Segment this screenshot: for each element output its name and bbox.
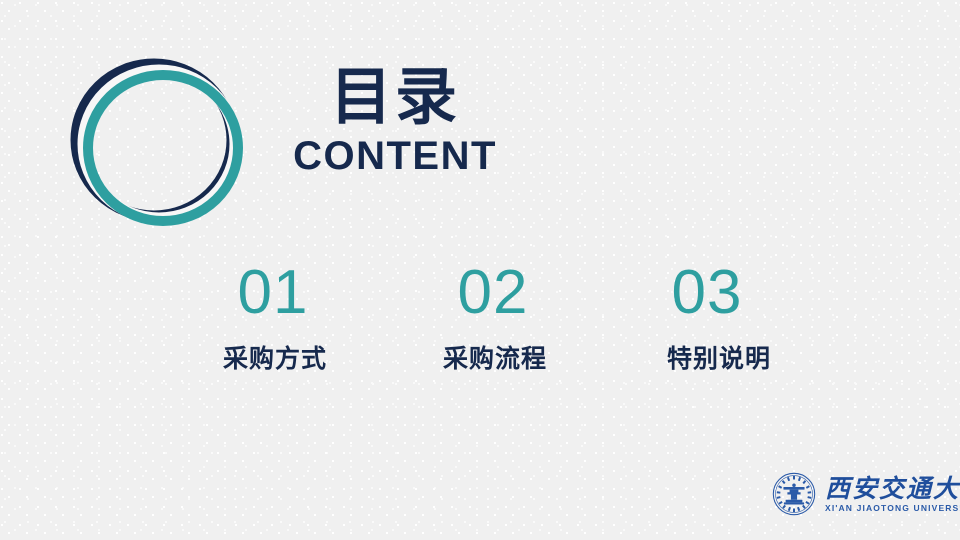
presentation-slide: 目录 CONTENT 01 采购方式 02 采购流程 03 特别说明 (0, 0, 960, 540)
page-subtitle: CONTENT (250, 135, 540, 177)
ring-teal (88, 75, 238, 221)
agenda-item-1-number: 01 (173, 262, 373, 324)
university-logo-text: 西安交通大学 XI'AN JIAOTONG UNIVERSITY (825, 476, 960, 513)
agenda-item-2[interactable]: 02 采购流程 (395, 262, 595, 374)
university-logo: 西安交通大学 XI'AN JIAOTONG UNIVERSITY (772, 472, 960, 516)
agenda-list: 01 采购方式 02 采购流程 03 特别说明 (175, 262, 815, 374)
agenda-item-2-label: 采购流程 (395, 346, 595, 374)
university-name-en: XI'AN JIAOTONG UNIVERSITY (825, 504, 960, 513)
agenda-item-3-number: 03 (607, 262, 807, 324)
page-title-block: 目录 CONTENT (250, 66, 540, 177)
agenda-item-3[interactable]: 03 特别说明 (615, 262, 815, 374)
agenda-item-2-number: 02 (393, 262, 593, 324)
xjtu-gear-emblem-icon (772, 472, 816, 516)
agenda-item-1-label: 采购方式 (175, 346, 375, 374)
double-ring-decoration-icon (62, 52, 258, 238)
agenda-item-1[interactable]: 01 采购方式 (175, 262, 375, 374)
university-name-cn: 西安交通大学 (825, 476, 960, 501)
agenda-item-3-label: 特别说明 (619, 346, 819, 374)
page-title: 目录 (250, 66, 540, 129)
